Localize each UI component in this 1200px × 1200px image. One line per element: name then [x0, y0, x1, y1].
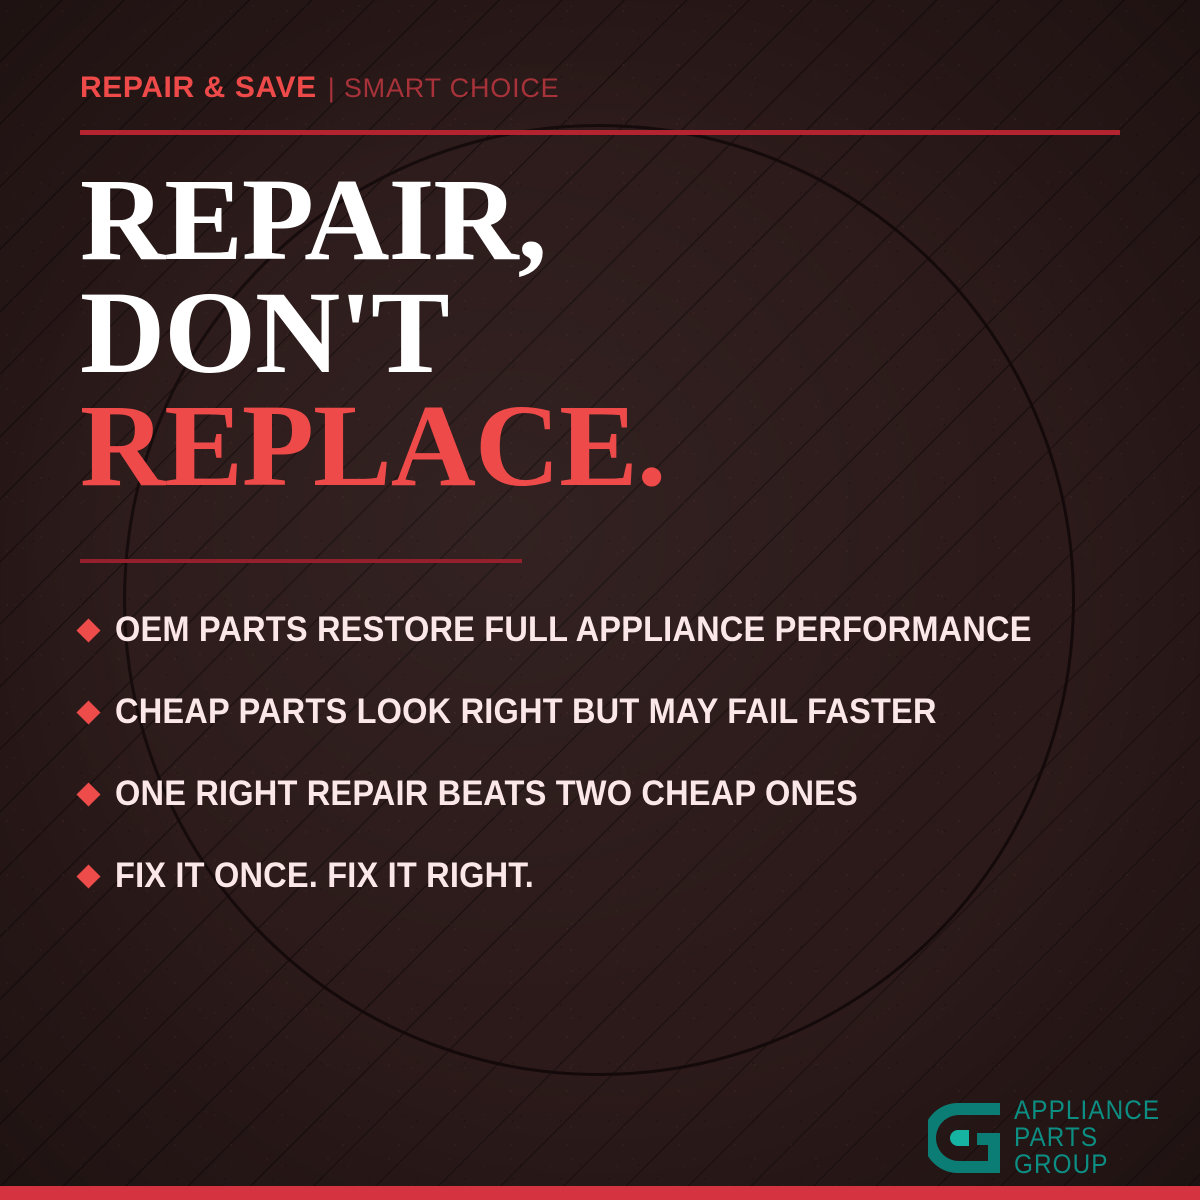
list-item-label: OEM PARTS RESTORE FULL APPLIANCE PERFORM…	[115, 610, 1032, 650]
g-monogram-icon	[928, 1103, 1000, 1173]
brand-wordmark: APPLIANCE PARTS GROUP	[1014, 1097, 1176, 1178]
page-title: REPAIR, DON'T REPLACE.	[80, 163, 665, 502]
bottom-accent-bar	[0, 1186, 1200, 1200]
header-divider-rule	[80, 130, 1120, 135]
brand-logo: APPLIANCE PARTS GROUP	[928, 1097, 1176, 1178]
diamond-icon	[76, 700, 100, 724]
diamond-icon	[76, 864, 100, 888]
list-item-label: CHEAP PARTS LOOK RIGHT BUT MAY FAIL FAST…	[115, 692, 937, 732]
eyebrow-sub-label: | SMART CHOICE	[328, 73, 560, 104]
brand-line-3: GROUP	[1014, 1151, 1160, 1178]
brand-line-2: PARTS	[1014, 1124, 1160, 1151]
list-item: FIX IT ONCE. FIX IT RIGHT.	[80, 835, 1140, 917]
brand-line-1: APPLIANCE	[1014, 1097, 1160, 1124]
headline-line-3: REPLACE.	[80, 389, 665, 502]
headline-line-2: DON'T	[80, 276, 665, 389]
diamond-icon	[76, 782, 100, 806]
headline-divider-rule	[80, 559, 522, 563]
poster-canvas: REPAIR & SAVE | SMART CHOICE REPAIR, DON…	[0, 0, 1200, 1200]
eyebrow-main-label: REPAIR & SAVE	[80, 71, 317, 105]
headline-line-1: REPAIR,	[80, 163, 665, 276]
eyebrow: REPAIR & SAVE | SMART CHOICE	[80, 71, 559, 105]
benefit-list: OEM PARTS RESTORE FULL APPLIANCE PERFORM…	[80, 589, 1140, 917]
diamond-icon	[76, 618, 100, 642]
list-item-label: FIX IT ONCE. FIX IT RIGHT.	[115, 856, 534, 896]
list-item: CHEAP PARTS LOOK RIGHT BUT MAY FAIL FAST…	[80, 671, 1140, 753]
list-item: ONE RIGHT REPAIR BEATS TWO CHEAP ONES	[80, 753, 1140, 835]
list-item-label: ONE RIGHT REPAIR BEATS TWO CHEAP ONES	[115, 774, 858, 814]
list-item: OEM PARTS RESTORE FULL APPLIANCE PERFORM…	[80, 589, 1140, 671]
